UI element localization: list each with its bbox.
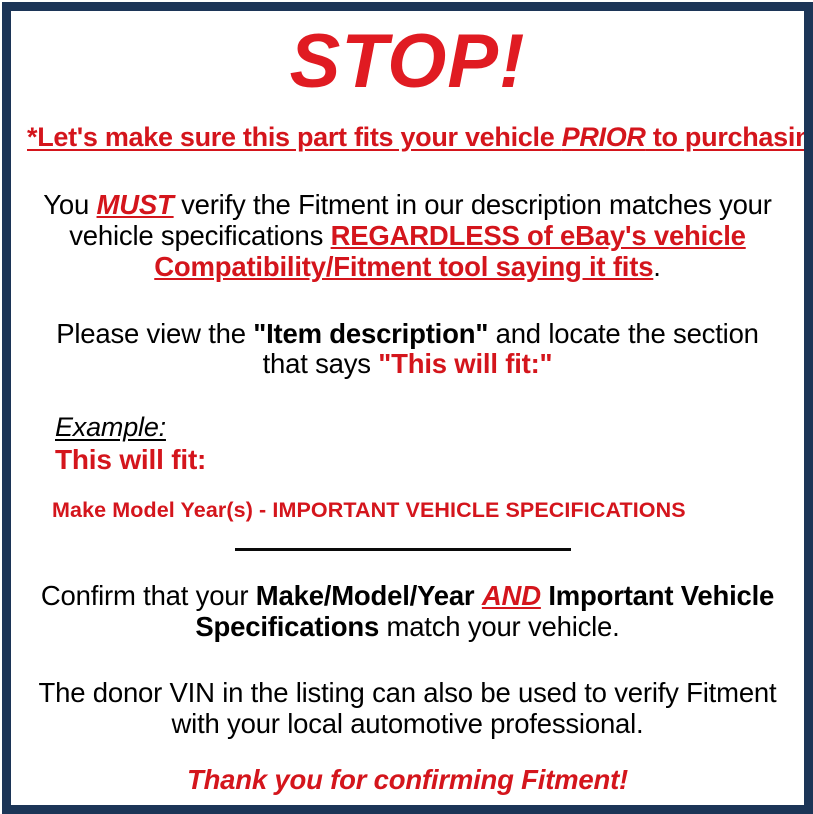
example-spec-line: Make Model Year(s) - IMPORTANT VEHICLE S… <box>52 498 788 522</box>
paragraph-confirm: Confirm that your Make/Model/Year AND Im… <box>27 581 788 643</box>
notice-content: STOP! *Let's make sure this part fits yo… <box>11 11 804 805</box>
confirm-text-1: Confirm that your <box>41 580 256 611</box>
emphasis-and: AND <box>482 580 541 611</box>
tagline: *Let's make sure this part fits your veh… <box>27 122 788 152</box>
paragraph-view-description: Please view the "Item description" and l… <box>27 319 788 381</box>
example-label: Example: <box>55 413 166 443</box>
must-text-3: . <box>653 251 660 282</box>
confirm-space-1 <box>474 580 481 611</box>
example-label-row: Example: <box>55 413 788 443</box>
emphasis-make-model-year: Make/Model/Year <box>256 580 475 611</box>
paragraph-vin: The donor VIN in the listing can also be… <box>27 678 788 740</box>
horizontal-rule <box>235 548 571 551</box>
example-block: Example: This will fit: Make Model Year(… <box>27 413 788 522</box>
tagline-emphasis-prior: PRIOR <box>562 122 646 152</box>
tagline-before: *Let's make sure this part fits your veh… <box>27 122 562 152</box>
example-fit-header: This will fit: <box>55 444 788 476</box>
thanks-line: Thank you for confirming Fitment! <box>27 765 788 796</box>
paragraph-must: You MUST verify the Fitment in our descr… <box>27 190 788 282</box>
notice-frame: STOP! *Let's make sure this part fits yo… <box>2 2 813 814</box>
emphasis-item-description: "Item description" <box>253 318 488 349</box>
must-text-1: You <box>43 189 96 220</box>
tagline-after: to purchasing* <box>646 122 804 152</box>
confirm-text-2: match your vehicle. <box>379 611 620 642</box>
notice-page: STOP! *Let's make sure this part fits yo… <box>0 0 813 814</box>
emphasis-this-will-fit: "This will fit:" <box>378 348 552 379</box>
emphasis-must: MUST <box>97 189 174 220</box>
view-text-1: Please view the <box>56 318 253 349</box>
stop-heading: STOP! <box>27 24 788 100</box>
divider-wrapper <box>27 548 788 551</box>
